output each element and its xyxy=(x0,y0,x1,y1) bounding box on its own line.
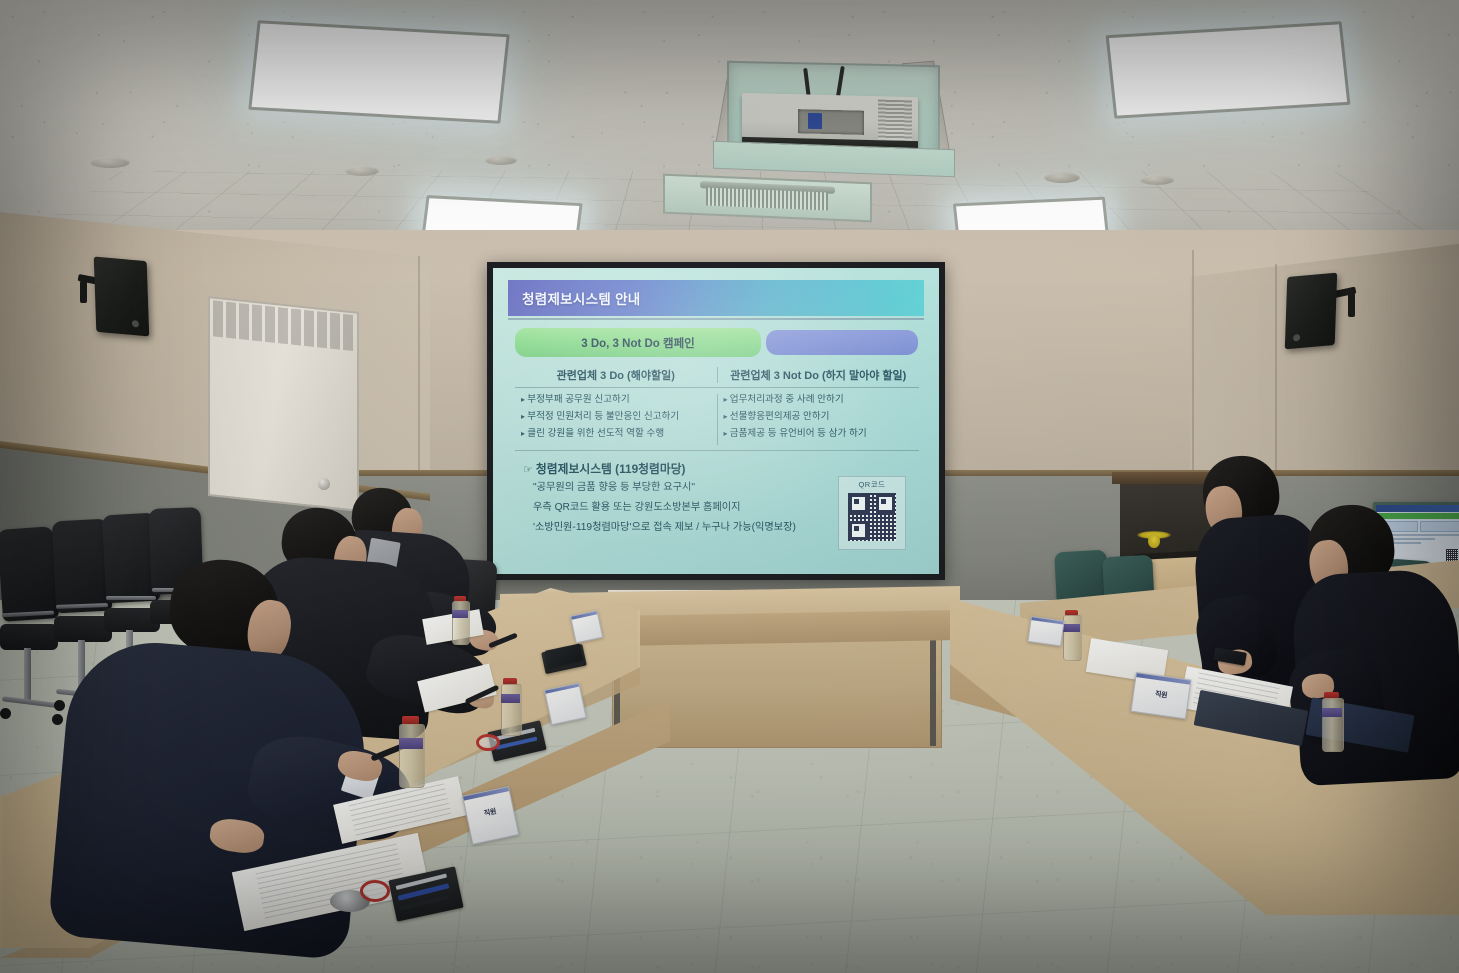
smoke-detector-icon xyxy=(1044,172,1080,183)
slide-title-bar: 청렴제보시스템 안내 xyxy=(508,280,924,316)
projection-screen: 청렴제보시스템 안내 3 Do, 3 Not Do 캠페인 관련업체 3 Do … xyxy=(493,268,939,574)
fire-service-emblem-body xyxy=(1148,534,1160,548)
meeting-room-scene: 청렴제보시스템 안내 3 Do, 3 Not Do 캠페인 관련업체 3 Do … xyxy=(0,0,1459,973)
bottle-body xyxy=(452,601,470,645)
slide: 청렴제보시스템 안내 3 Do, 3 Not Do 캠페인 관련업체 3 Do … xyxy=(493,268,939,574)
wall-speaker-left xyxy=(94,257,150,337)
qr-finder-icon xyxy=(849,494,868,513)
qr-code-label: QR코드 xyxy=(858,479,885,490)
slide-title-underline xyxy=(508,318,924,320)
bottle-body xyxy=(399,724,425,788)
campaign-blue-pill xyxy=(766,330,918,355)
column-header-notdo: 관련업체 3 Not Do (하지 말아야 할일) xyxy=(717,367,920,383)
smoke-detector-icon xyxy=(485,156,517,165)
wall-seam xyxy=(1192,250,1194,470)
speaker-badge-icon xyxy=(132,320,139,328)
campaign-label: 3 Do, 3 Not Do 캠페인 xyxy=(581,335,695,351)
column-body-do: 부정부패 공무원 신고하기 부적정 민원처리 등 불만응인 신고하기 클린 강원… xyxy=(515,394,717,445)
column-header-do: 관련업체 3 Do (해야할일) xyxy=(515,367,717,383)
qr-code-box: QR코드 xyxy=(838,476,906,550)
column-body-notdo: 업무처리과정 중 사례 안하기 선물향응편의제공 안하기 금품제공 등 유언비어… xyxy=(717,394,920,445)
projector-exhaust-vent xyxy=(878,100,912,141)
ceiling-light-panel-3 xyxy=(1106,21,1351,118)
wall-seam xyxy=(418,256,420,486)
bottle-label xyxy=(1322,708,1342,717)
bullet-item: 부적정 민원처리 등 불만응인 신고하기 xyxy=(521,411,711,423)
slide-column-bodies: 부정부패 공무원 신고하기 부적정 민원처리 등 불만응인 신고하기 클린 강원… xyxy=(515,388,919,445)
bottle-label xyxy=(452,610,468,618)
monitor-page-column xyxy=(1420,521,1459,532)
wall-seam xyxy=(1275,264,1277,474)
speaker-badge-icon xyxy=(1293,334,1300,342)
system-heading: 청렴제보시스템 (119청렴마당) xyxy=(523,460,685,477)
system-line: '소방민원-119청렴마당'으로 접속 제보 / 누구나 가능(익명보장) xyxy=(533,522,833,534)
red-ring-holder[interactable] xyxy=(360,880,390,902)
ceiling-light-panel-1 xyxy=(248,20,509,124)
qr-finder-icon xyxy=(876,494,895,513)
projector-vga-port xyxy=(808,113,822,129)
slide-title: 청렴제보시스템 안내 xyxy=(522,288,641,308)
wall-speaker-right xyxy=(1285,273,1337,350)
bottle-label xyxy=(1063,624,1080,632)
campaign-row: 3 Do, 3 Not Do 캠페인 xyxy=(515,328,919,357)
slide-columns: 관련업체 3 Do (해야할일) 관련업체 3 Not Do (하지 말아야 할… xyxy=(515,367,919,445)
system-line: "공무원의 금품 향응 등 부당한 요구시" xyxy=(533,482,833,494)
bottle-label xyxy=(501,694,520,703)
placard-label: 직원 xyxy=(1134,686,1189,703)
smoke-detector-icon xyxy=(1140,175,1174,185)
bullet-item: 선물향응편의제공 안하기 xyxy=(724,411,914,423)
table-leg xyxy=(930,628,936,746)
smoke-detector-icon xyxy=(90,157,130,168)
bullet-item: 업무처리과정 중 사례 안하기 xyxy=(724,394,914,406)
qr-finder-icon xyxy=(849,521,868,540)
slide-divider xyxy=(515,450,919,451)
speaker-bracket xyxy=(1348,293,1355,317)
campaign-green-pill: 3 Do, 3 Not Do 캠페인 xyxy=(515,328,761,357)
monitor-page-nav xyxy=(1378,513,1459,519)
bottle-body xyxy=(1322,698,1344,752)
bullet-item: 금품제공 등 유언비어 등 삼가 하기 xyxy=(724,428,914,440)
speaker-bracket xyxy=(80,281,87,303)
system-line: 우측 QR코드 활용 또는 강원도소방본부 홈페이지 xyxy=(533,502,833,514)
red-ring-holder[interactable] xyxy=(476,734,500,751)
bottle-body xyxy=(1063,615,1082,661)
bullet-item: 클린 강원을 위한 선도적 역할 수행 xyxy=(521,428,711,440)
monitor-qr-icon xyxy=(1446,549,1458,561)
qr-code-icon xyxy=(848,493,896,541)
bottle-label xyxy=(399,738,423,749)
placard-label: 직원 xyxy=(467,803,514,822)
monitor-page-header xyxy=(1376,505,1459,512)
bottle-body xyxy=(501,684,522,736)
system-lines: "공무원의 금품 향응 등 부당한 요구시" 우측 QR코드 활용 또는 강원도… xyxy=(533,482,833,543)
door-knob-icon[interactable] xyxy=(318,478,330,490)
bullet-item: 부정부패 공무원 신고하기 xyxy=(521,394,711,406)
smoke-detector-icon xyxy=(345,166,379,176)
slide-column-headers: 관련업체 3 Do (해야할일) 관련업체 3 Not Do (하지 말아야 할… xyxy=(515,367,919,388)
